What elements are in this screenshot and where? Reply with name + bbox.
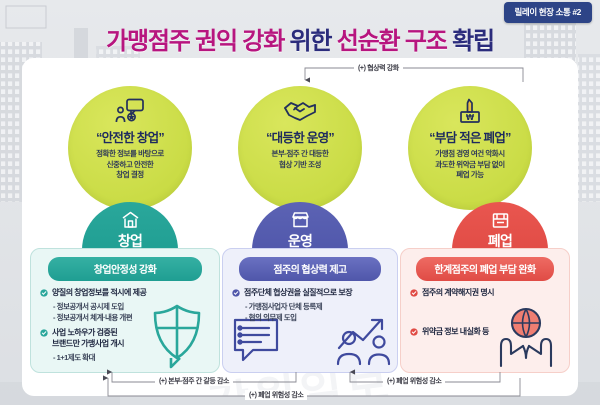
bubble-title: “부담 적은 폐업” [408, 127, 532, 146]
flow-label-top: (+) 협상력 강화 [354, 63, 403, 73]
card-bullet-list: 점주의 계약해지권 명시 위약금 정보 내실화 등 [401, 281, 569, 337]
title-part-2: 위한 [290, 28, 332, 55]
bubble-desc: 본부-점주 간 대등한 협상 기반 조성 [238, 149, 362, 170]
list-item-text: 위약금 정보 내실화 등 [422, 327, 489, 338]
check-circle-icon [232, 289, 240, 297]
card-header: 한계점주의 폐업 부담 완화 [416, 257, 554, 281]
card-bullet-list: 점주단체 협상권을 실질적으로 보장 - 가맹점사업자 단체 등록제 - 협의 … [223, 281, 397, 323]
card-header: 점주의 협상력 제고 [239, 257, 382, 281]
handshake-icon [238, 98, 362, 125]
card-closure: 한계점주의 폐업 부담 완화 점주의 계약해지권 명시 위약금 정보 내실화 등 [400, 248, 570, 373]
sub-item: - 가맹점사업자 단체 등록제 [245, 301, 388, 312]
page-title: 가맹점주 권익 강화 위한 선순환 구조 확립 [0, 21, 600, 56]
sub-item: - 1+1제도 확대 [53, 352, 210, 363]
person-speech-badge-icon [68, 98, 192, 125]
storefront-home-icon [82, 211, 178, 230]
closed-box-icon [452, 211, 548, 230]
bubble-desc: 정확한 정보를 바탕으로 신중하고 안전한 창업 결정 [68, 149, 192, 181]
list-item: 위약금 정보 내실화 등 [410, 327, 560, 338]
list-item: 양질의 창업정보를 적시에 제공 [40, 288, 210, 299]
card-startup: 창업안정성 강화 양질의 창업정보를 적시에 제공 - 정보공개서 공시제 도입… [30, 248, 220, 373]
store-shop-icon [252, 211, 348, 230]
title-part-3: 선순환 구조 [337, 28, 447, 55]
bubble-equal-operation: “대등한 운영” 본부-점주 간 대등한 협상 기반 조성 [238, 86, 362, 210]
list-item: 점주의 계약해지권 명시 [410, 288, 560, 299]
title-part-1: 가맹점주 권익 강화 [106, 28, 284, 55]
flow-label-bottom-right: (+) 폐업 위험성 감소 [383, 376, 445, 386]
list-item: 사업 노하우가 검증된 브랜드만 가맹사업 개시 [40, 328, 210, 349]
card-header: 창업안정성 강화 [48, 257, 202, 281]
bubble-title: “대등한 운영” [238, 127, 362, 146]
card-bullet-list: 양질의 창업정보를 적시에 제공 - 정보공개서 공시제 도입 - 정보공개서 … [31, 281, 219, 363]
bubble-low-burden-closure: ₩ “부담 적은 폐업” 가맹점 경영 여건 악화시 과도한 위약금 부담 없이… [408, 86, 532, 210]
bubble-safe-startup: “안전한 창업” 정확한 정보를 바탕으로 신중하고 안전한 창업 결정 [68, 86, 192, 210]
card-operation: 점주의 협상력 제고 점주단체 협상권을 실질적으로 보장 - 가맹점사업자 단… [222, 248, 398, 373]
title-part-4: 확립 [452, 28, 494, 55]
sub-item: - 협의 의무제 도입 [245, 312, 388, 323]
list-item: 점주단체 협상권을 실질적으로 보장 [232, 288, 388, 299]
bubble-desc: 가맹점 경영 여건 악화시 과도한 위약금 부담 없이 폐업 가능 [408, 149, 532, 181]
list-item-text: 양질의 창업정보를 적시에 제공 [52, 288, 146, 299]
money-document-icon: ₩ [408, 98, 532, 125]
check-circle-icon [410, 289, 418, 297]
check-circle-icon [40, 289, 48, 297]
bubble-title: “안전한 창업” [68, 127, 192, 146]
list-item-text: 사업 노하우가 검증된 브랜드만 가맹사업 개시 [52, 328, 124, 349]
list-item-text: 점주의 계약해지권 명시 [422, 288, 494, 299]
sub-item: - 정보공개서 체계·내용 개편 [53, 312, 210, 323]
check-circle-icon [40, 329, 48, 337]
check-circle-icon [410, 328, 418, 336]
status-badge: 릴레이 현장 소통 #2 [504, 2, 592, 23]
sub-item: - 정보공개서 공시제 도입 [53, 301, 210, 312]
flow-label-bottom-center: (+) 폐업 위험성 감소 [245, 390, 307, 400]
svg-text:₩: ₩ [466, 113, 475, 122]
list-item-text: 점주단체 협상권을 실질적으로 보장 [244, 288, 352, 299]
flow-label-bottom-left: (+) 본부-점주 간 갈등 감소 [155, 376, 233, 386]
